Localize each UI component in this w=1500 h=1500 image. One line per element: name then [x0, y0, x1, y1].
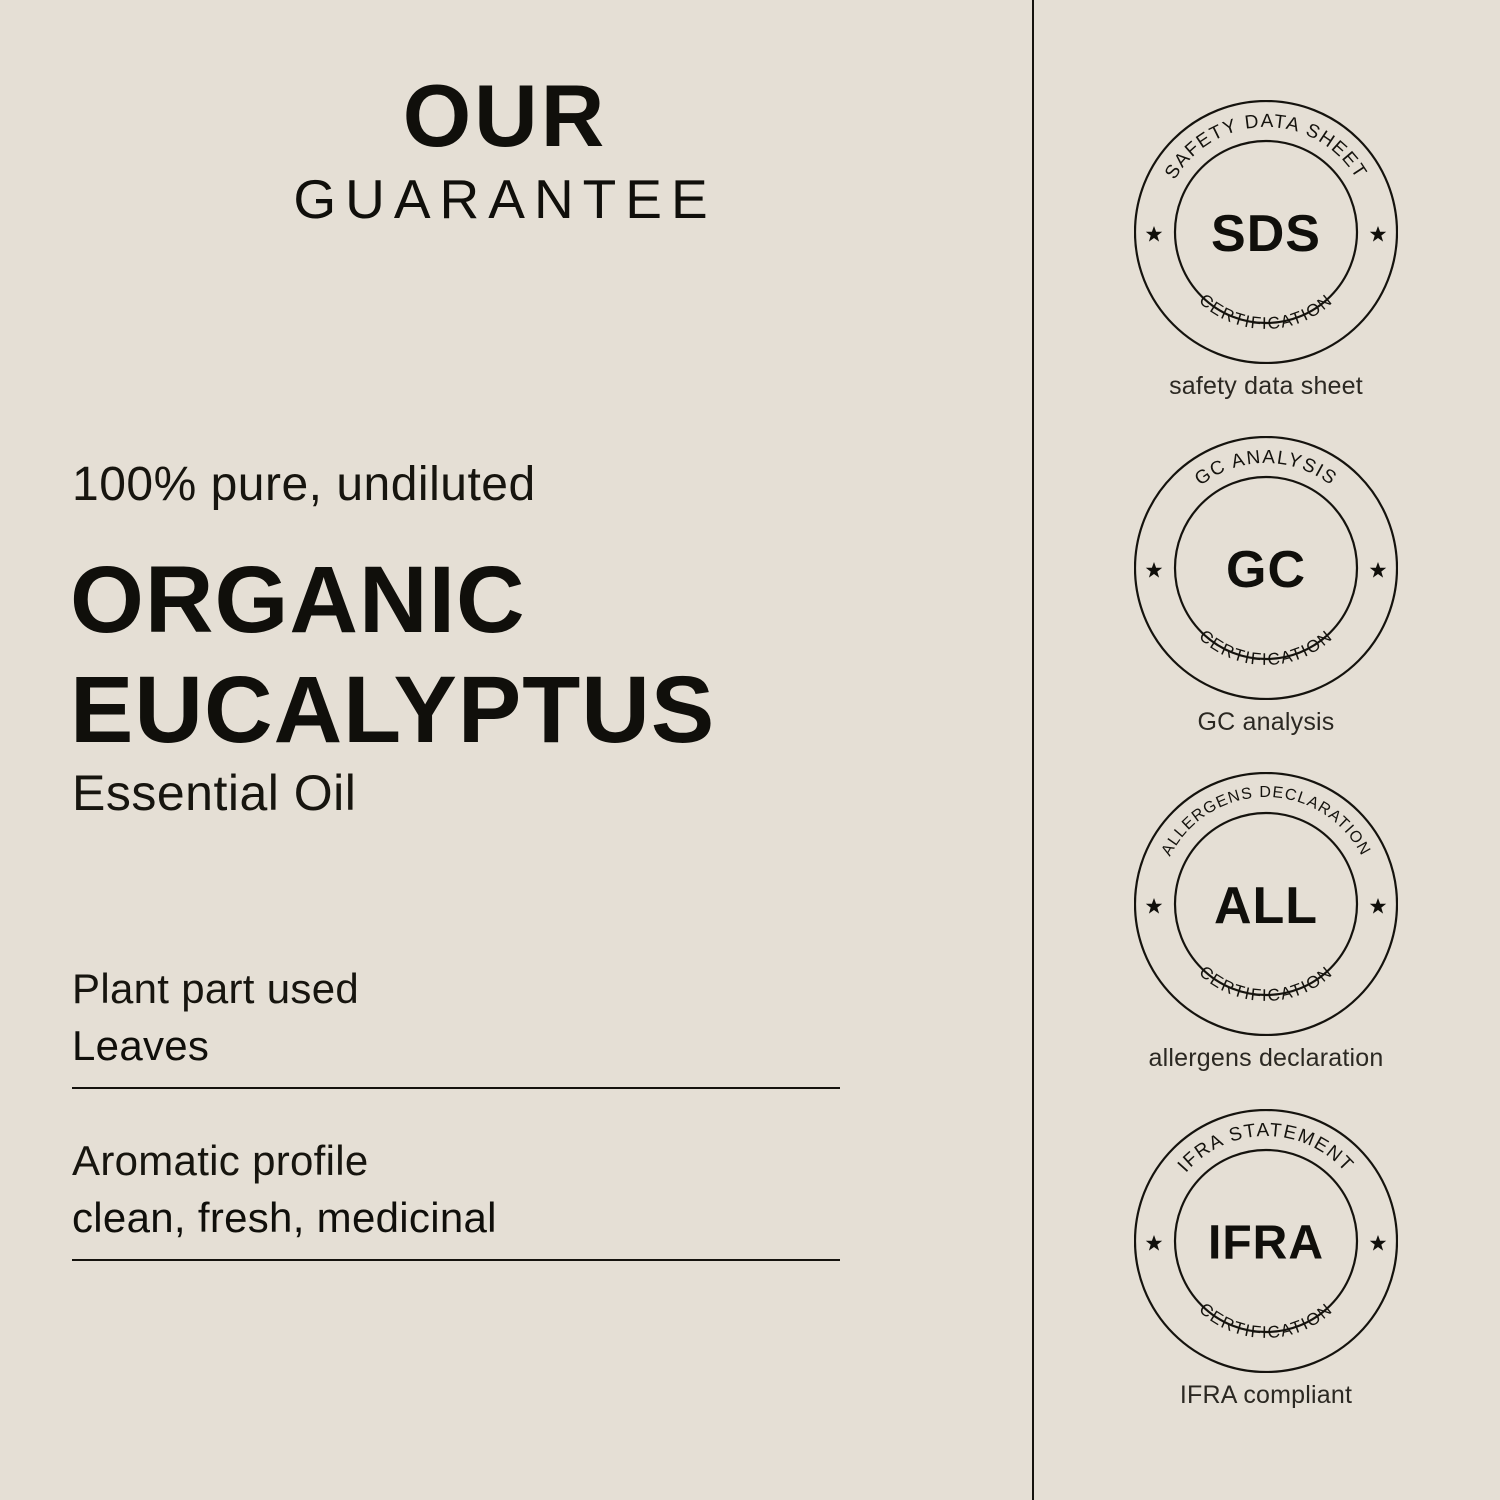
star-icon — [1146, 898, 1162, 914]
badge-caption: safety data sheet — [1032, 372, 1500, 401]
product-kind: Essential Oil — [72, 766, 356, 821]
spec-plant-part: Plant part used Leaves — [72, 965, 840, 1089]
badge-caption: allergens declaration — [1032, 1044, 1500, 1073]
star-icon — [1146, 1235, 1162, 1251]
purity-eyebrow: 100% pure, undiluted — [72, 459, 536, 512]
seal-icon: ALLERGENS DECLARATION CERTIFICATION ALL — [1134, 772, 1398, 1036]
svg-text:SAFETY DATA SHEET: SAFETY DATA SHEET — [1161, 111, 1371, 183]
star-icon — [1370, 226, 1386, 242]
certification-badges-column: SAFETY DATA SHEET CERTIFICATION SDS safe… — [1032, 0, 1500, 1500]
svg-text:ALLERGENS DECLARATION: ALLERGENS DECLARATION — [1158, 784, 1373, 859]
page-title-line-1: OUR — [0, 72, 1010, 160]
svg-text:CERTIFICATION: CERTIFICATION — [1196, 962, 1337, 1005]
seal-abbreviation: GC — [1226, 541, 1306, 599]
spec-rule — [72, 1087, 840, 1089]
seal-icon: IFRA STATEMENT CERTIFICATION IFRA — [1134, 1109, 1398, 1373]
seal-icon: GC ANALYSIS CERTIFICATION GC — [1134, 436, 1398, 700]
seal-abbreviation: SDS — [1211, 205, 1321, 263]
seal-bottom-arc-text: CERTIFICATION — [1196, 1299, 1337, 1342]
svg-text:IFRA STATEMENT: IFRA STATEMENT — [1174, 1120, 1358, 1177]
star-icon — [1146, 226, 1162, 242]
page-title: OUR GUARANTEE — [0, 72, 1010, 227]
star-icon — [1146, 562, 1162, 578]
star-icon — [1370, 1235, 1386, 1251]
badge-ifra-statement: IFRA STATEMENT CERTIFICATION IFRA IFRA c… — [1032, 1109, 1500, 1410]
svg-text:CERTIFICATION: CERTIFICATION — [1196, 1299, 1337, 1342]
svg-text:CERTIFICATION: CERTIFICATION — [1196, 626, 1337, 669]
seal-top-arc-text: IFRA STATEMENT — [1174, 1120, 1358, 1177]
badge-allergens-declaration: ALLERGENS DECLARATION CERTIFICATION ALL … — [1032, 772, 1500, 1073]
badge-gc-analysis: GC ANALYSIS CERTIFICATION GC GC analysis — [1032, 436, 1500, 737]
star-icon — [1370, 562, 1386, 578]
spec-label: Aromatic profile — [72, 1137, 840, 1184]
spec-rule — [72, 1259, 840, 1261]
seal-top-arc-text: GC ANALYSIS — [1191, 447, 1341, 490]
seal-top-arc-text: ALLERGENS DECLARATION — [1158, 784, 1373, 859]
seal-bottom-arc-text: CERTIFICATION — [1196, 290, 1337, 333]
guarantee-page: OUR GUARANTEE 100% pure, undiluted ORGAN… — [0, 0, 1500, 1500]
seal-icon: SAFETY DATA SHEET CERTIFICATION SDS — [1134, 100, 1398, 364]
spec-aromatic-profile: Aromatic profile clean, fresh, medicinal — [72, 1137, 840, 1261]
spec-value: Leaves — [72, 1022, 840, 1069]
spec-label: Plant part used — [72, 965, 840, 1012]
left-content-column: OUR GUARANTEE 100% pure, undiluted ORGAN… — [0, 0, 1032, 1500]
star-icon — [1370, 898, 1386, 914]
seal-abbreviation: IFRA — [1208, 1217, 1324, 1270]
svg-text:GC ANALYSIS: GC ANALYSIS — [1191, 447, 1341, 490]
badge-safety-data-sheet: SAFETY DATA SHEET CERTIFICATION SDS safe… — [1032, 100, 1500, 401]
svg-text:CERTIFICATION: CERTIFICATION — [1196, 290, 1337, 333]
seal-abbreviation: ALL — [1214, 877, 1318, 935]
product-name: ORGANIC EUCALYPTUS — [70, 545, 715, 765]
seal-bottom-arc-text: CERTIFICATION — [1196, 626, 1337, 669]
spec-value: clean, fresh, medicinal — [72, 1194, 840, 1241]
page-title-line-2: GUARANTEE — [0, 172, 1010, 227]
badge-caption: GC analysis — [1032, 708, 1500, 737]
seal-top-arc-text: SAFETY DATA SHEET — [1161, 111, 1371, 183]
seal-bottom-arc-text: CERTIFICATION — [1196, 962, 1337, 1005]
badge-caption: IFRA compliant — [1032, 1381, 1500, 1410]
